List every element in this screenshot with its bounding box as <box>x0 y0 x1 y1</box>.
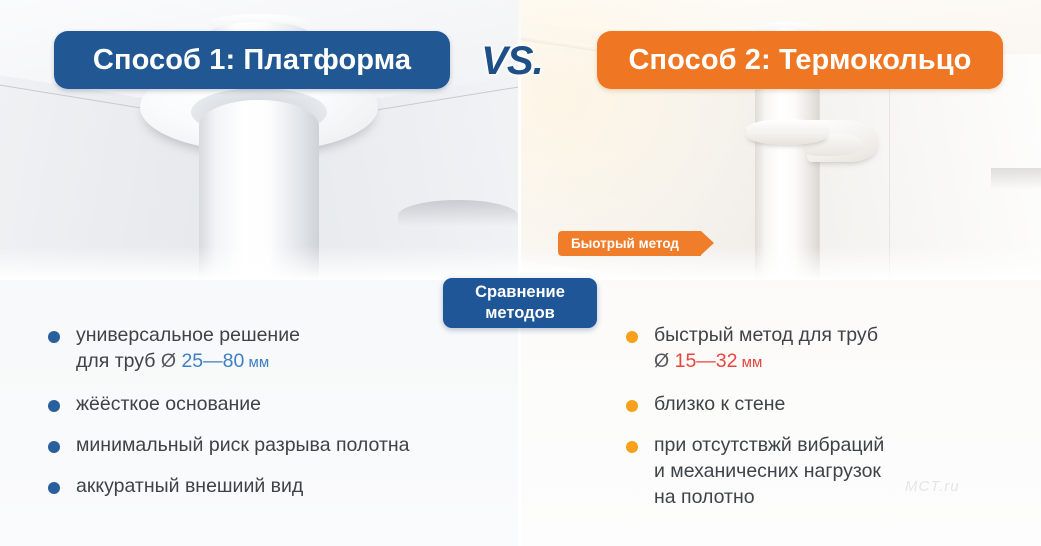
bullet-dot-icon <box>48 400 60 412</box>
vs-text: VS. <box>481 39 542 84</box>
right-benefits-list: быстрый метод для труб Ø 15—32 мм близко… <box>626 322 1026 525</box>
method-2-badge[interactable]: Способ 2: Термокольцо <box>597 31 1003 89</box>
bullet-dot-icon <box>48 441 60 453</box>
list-item: жёёсткое основание <box>48 391 493 417</box>
list-item: минимальный риск разрыва полотна <box>48 432 493 458</box>
list-item: при отсутствжй вибраций и механичесних н… <box>626 432 1026 510</box>
method-1-badge[interactable]: Способ 1: Платформа <box>54 31 450 89</box>
bullet-dot-icon <box>48 331 60 343</box>
method-1-label: Способ 1: Платформа <box>93 44 411 77</box>
fast-method-tag: Быотрый метод <box>558 231 701 256</box>
method-2-label: Способ 2: Термокольцо <box>629 44 972 77</box>
bullet-dot-icon <box>48 482 60 494</box>
infographic-canvas: Способ 1: Платформа VS. Способ 2: Термок… <box>0 0 1041 546</box>
comparison-badge-line2: методов <box>485 303 555 324</box>
vs-logo: VS. <box>476 32 548 90</box>
diameter-symbol-icon: Ø <box>161 350 182 372</box>
list-item-text: минимальный риск разрыва полотна <box>76 434 410 456</box>
pipe-diameter-range: 25—80 <box>181 350 244 372</box>
list-item-line2-prefix: для труб <box>76 350 161 372</box>
left-benefits-list: универсальное решение для труб Ø 25—80 м… <box>48 322 493 514</box>
list-item-line2: и механичесних нагрузок <box>654 460 881 482</box>
list-item: аккуратный внешиий вид <box>48 473 493 499</box>
pipe-shadow <box>398 200 518 226</box>
pipe-shadow <box>991 168 1041 190</box>
bullet-dot-icon <box>626 441 638 453</box>
list-item-text: близко к стене <box>654 393 785 415</box>
bullet-dot-icon <box>626 331 638 343</box>
pipe-diameter-unit: мм <box>737 354 762 371</box>
list-item-line3: на полотно <box>654 486 755 508</box>
list-item-line1: универсальное решение <box>76 324 300 346</box>
comparison-badge[interactable]: Сравнение методов <box>443 278 597 328</box>
list-item-line1: быстрый метод для труб <box>654 324 878 346</box>
fast-method-tag-label: Быотрый метод <box>571 236 679 251</box>
diameter-symbol-icon: Ø <box>654 350 675 372</box>
list-item-text: жёёсткое основание <box>76 393 261 415</box>
pipe-diameter-range: 15—32 <box>675 350 738 372</box>
list-item: быстрый метод для труб Ø 15—32 мм <box>626 322 1026 376</box>
photo-bottom-fade <box>0 246 519 280</box>
list-item-line1: при отсутствжй вибраций <box>654 434 884 456</box>
list-item-text: аккуратный внешиий вид <box>76 475 303 497</box>
pipe-diameter-unit: мм <box>244 354 269 371</box>
watermark: MCT.ru <box>905 478 960 495</box>
bullet-dot-icon <box>626 400 638 412</box>
list-item: близко к стене <box>626 391 1026 417</box>
list-item: универсальное решение для труб Ø 25—80 м… <box>48 322 493 376</box>
comparison-badge-line1: Сравнение <box>475 282 565 303</box>
